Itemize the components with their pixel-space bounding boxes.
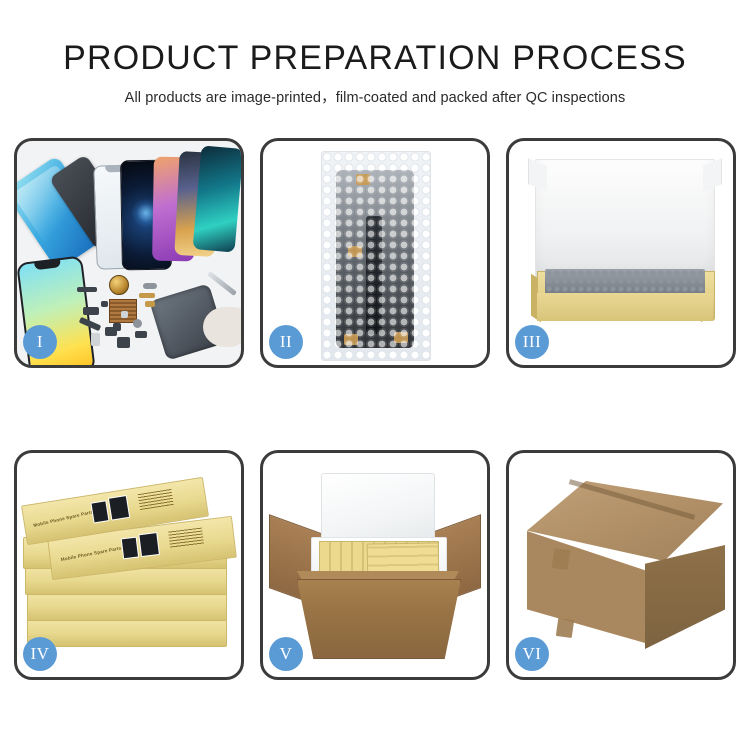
box-label-lines <box>168 528 204 549</box>
tape-piece <box>394 332 408 343</box>
product-preparation-infographic: PRODUCT PREPARATION PROCESS All products… <box>0 0 750 750</box>
carton-side-face <box>645 545 725 649</box>
process-steps-grid: I II <box>14 138 736 680</box>
small-part <box>91 333 100 346</box>
tape-piece <box>356 174 370 185</box>
hand <box>203 307 241 347</box>
step-panel-bubble-wrapped-screen: II <box>260 138 490 368</box>
page-subtitle: All products are image-printed，film-coat… <box>0 88 750 108</box>
box-label-image <box>90 500 109 523</box>
step-badge-3: III <box>515 325 549 359</box>
tape-piece <box>344 334 358 345</box>
header: PRODUCT PREPARATION PROCESS All products… <box>0 38 750 108</box>
step-panel-open-box-with-foam: III <box>506 138 736 368</box>
small-part <box>133 319 142 328</box>
bubble-wrap-bag <box>321 151 431 361</box>
step-panel-parts-overview: I <box>14 138 244 368</box>
small-part <box>113 323 121 331</box>
small-part <box>77 287 97 292</box>
step-panel-stacked-retail-boxes: Mobile Phone Spare Parts Mobile Phone Sp… <box>14 450 244 680</box>
teal-gradient-phone <box>193 145 241 252</box>
step-badge-5: V <box>269 637 303 671</box>
box-label-image <box>138 532 160 557</box>
step-panel-carton-with-foam-cooler: V <box>260 450 490 680</box>
step-badge-1: I <box>23 325 57 359</box>
page-title: PRODUCT PREPARATION PROCESS <box>0 38 750 78</box>
box-label-image <box>108 495 130 521</box>
carton-body <box>297 579 461 659</box>
foam-cooler-lid <box>321 473 435 543</box>
step-badge-2: II <box>269 325 303 359</box>
kraft-box-front <box>537 293 713 321</box>
box-label-text: Mobile Phone Spare Parts <box>33 509 94 528</box>
carton-tape <box>552 548 571 570</box>
box-label-lines <box>138 489 174 511</box>
small-part <box>139 293 155 298</box>
speaker-coil-part <box>109 275 129 295</box>
small-part <box>121 311 128 318</box>
step-badge-4: IV <box>23 637 57 671</box>
small-part <box>101 301 108 307</box>
step-panel-sealed-shipping-carton: VI <box>506 450 736 680</box>
tape-piece <box>348 246 362 257</box>
carton-tape <box>556 618 574 638</box>
small-part <box>143 283 157 289</box>
box-label-text: Mobile Phone Spare Parts <box>60 545 121 562</box>
small-part <box>135 331 147 338</box>
box-label-image <box>121 537 139 560</box>
flex-cable <box>366 216 382 334</box>
small-part <box>117 337 130 348</box>
white-box-lid <box>535 159 715 279</box>
small-part <box>145 301 155 307</box>
step-badge-6: VI <box>515 637 549 671</box>
small-part <box>83 307 99 315</box>
